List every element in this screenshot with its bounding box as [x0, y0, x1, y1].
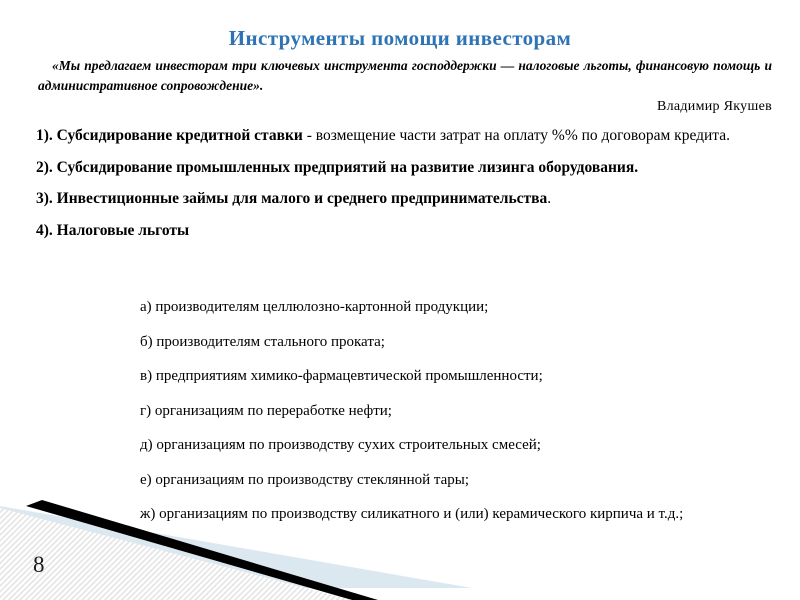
list-item-lead: 3). Инвестиционные займы для малого и ср… — [36, 190, 547, 207]
list-item: в) предприятиям химико-фармацевтической … — [140, 367, 770, 387]
list-item: е) организациям по производству стеклянн… — [140, 471, 770, 491]
list-item: д) организациям по производству сухих ст… — [140, 436, 770, 456]
list-item-lead: 2). Субсидирование промышленных предприя… — [36, 159, 638, 176]
list-item: 2). Субсидирование промышленных предприя… — [36, 158, 772, 179]
list-item-lead: 1). Субсидирование кредитной ставки — [36, 127, 303, 144]
list-item-tail: - возмещение части затрат на оплату %% п… — [303, 127, 730, 144]
list-item: 3). Инвестиционные займы для малого и ср… — [36, 189, 772, 210]
list-item: ж) организациям по производству силикатн… — [140, 505, 770, 525]
list-item-tail: . — [547, 190, 551, 207]
list-item-lead: 4). Налоговые льготы — [36, 222, 189, 239]
numbered-list: 1). Субсидирование кредитной ставки - во… — [36, 126, 772, 252]
list-item: 4). Налоговые льготы — [36, 221, 772, 242]
list-item: г) организациям по переработке нефти; — [140, 402, 770, 422]
slide-number: 8 — [33, 552, 45, 578]
list-item: б) производителям стального проката; — [140, 333, 770, 353]
slide-canvas: Инструменты помощи инвесторам «Мы предла… — [0, 0, 800, 600]
quote-attribution: Владимир Якушев — [38, 99, 772, 115]
list-item: а) производителям целлюлозно-картонной п… — [140, 298, 770, 318]
quote-text: «Мы предлагаем инвесторам три ключевых и… — [38, 56, 772, 97]
list-item: 1). Субсидирование кредитной ставки - во… — [36, 126, 772, 147]
lettered-sub-list: а) производителям целлюлозно-картонной п… — [140, 298, 770, 540]
page-title: Инструменты помощи инвесторам — [0, 26, 800, 51]
